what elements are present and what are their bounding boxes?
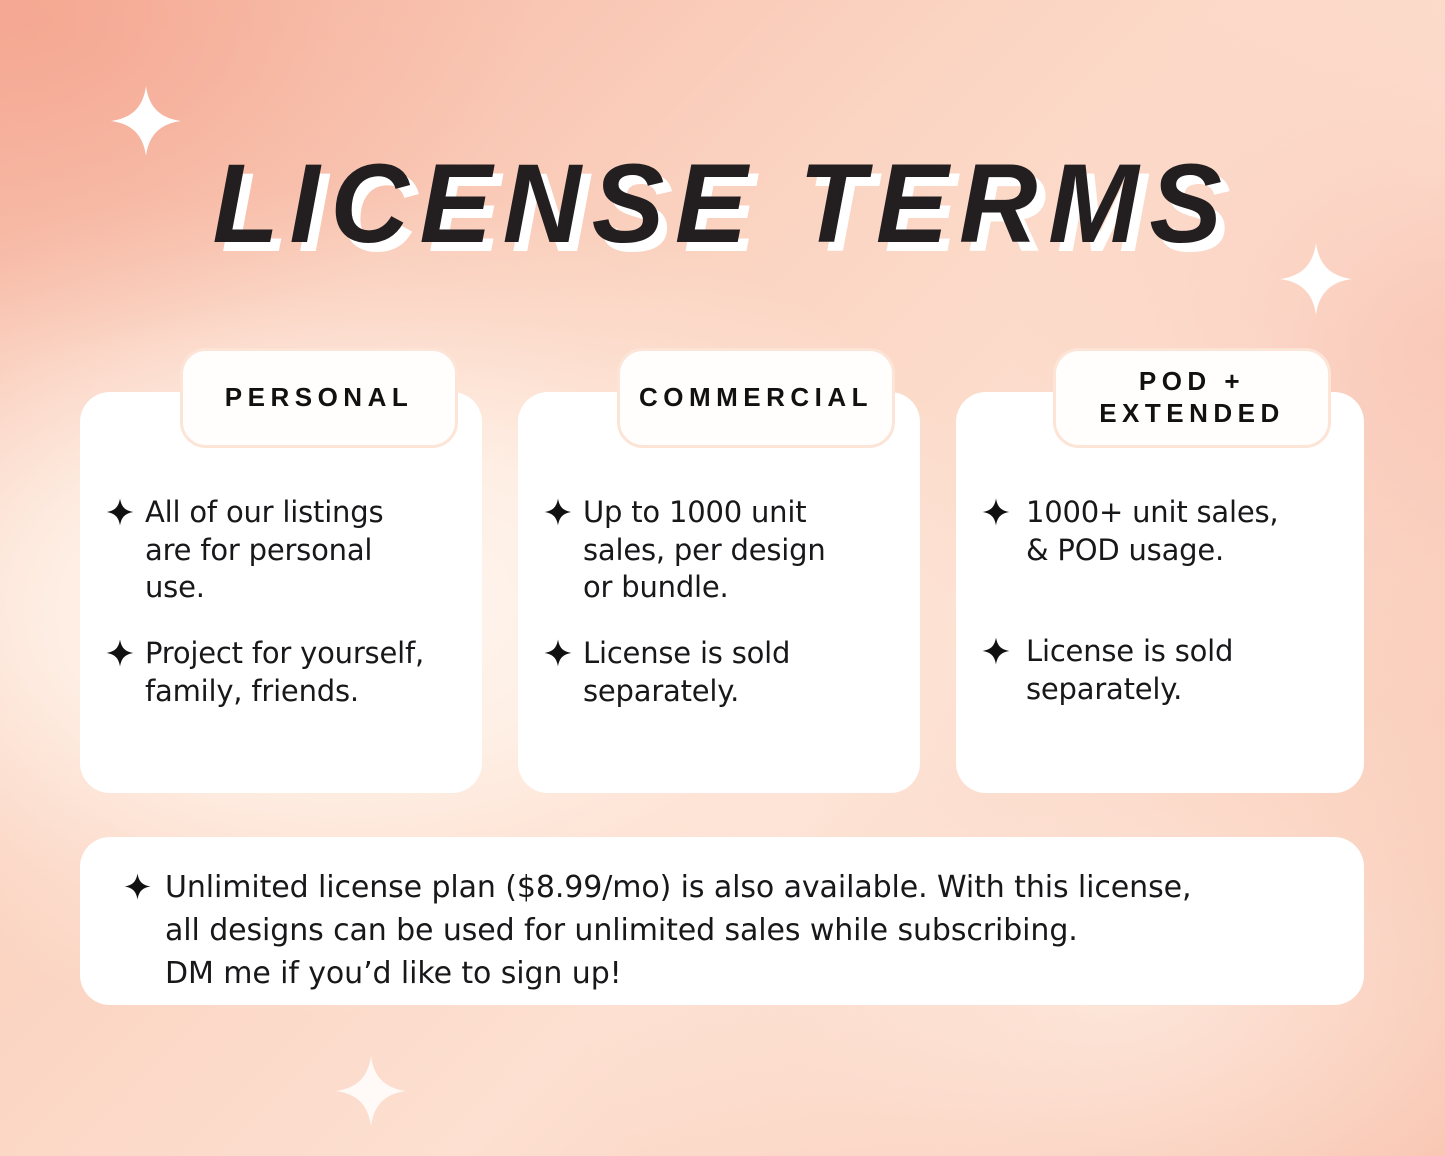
four-point-star-bullet-icon xyxy=(544,498,572,532)
list-item-text: Project for yourself, family, friends. xyxy=(145,635,424,710)
list-item-text: License is sold separately. xyxy=(1026,633,1233,708)
license-card-pod-extended: 1000+ unit sales, & POD usage. License i… xyxy=(956,392,1364,793)
list-item: All of our listings are for personal use… xyxy=(106,494,452,607)
unlimited-plan-banner: Unlimited license plan ($8.99/mo) is als… xyxy=(80,837,1364,1005)
four-point-star-bullet-icon xyxy=(106,498,134,532)
license-tier-header-commercial: COMMERCIAL xyxy=(617,348,895,448)
four-point-star-bullet-icon xyxy=(982,498,1010,532)
list-item: 1000+ unit sales, & POD usage. xyxy=(982,494,1334,569)
unlimited-plan-text: Unlimited license plan ($8.99/mo) is als… xyxy=(165,867,1191,996)
four-point-star-bullet-icon xyxy=(124,873,151,906)
page-title: LICENSE TERMS xyxy=(22,148,1424,260)
list-item: License is sold separately. xyxy=(544,635,890,710)
license-card-commercial: Up to 1000 unit sales, per design or bun… xyxy=(518,392,920,793)
license-card-personal: All of our listings are for personal use… xyxy=(80,392,482,793)
bullet-list: Up to 1000 unit sales, per design or bun… xyxy=(544,494,890,710)
license-tier-header-personal: PERSONAL xyxy=(180,348,458,448)
list-item: Up to 1000 unit sales, per design or bun… xyxy=(544,494,890,607)
license-tier-header-pod-extended: POD + EXTENDED xyxy=(1053,348,1331,448)
four-point-star-bullet-icon xyxy=(544,639,572,673)
four-point-star-bullet-icon xyxy=(106,639,134,673)
list-item: License is sold separately. xyxy=(982,633,1334,708)
bullet-list: 1000+ unit sales, & POD usage. License i… xyxy=(982,494,1334,709)
list-item-text: License is sold separately. xyxy=(583,635,790,710)
four-point-star-bullet-icon xyxy=(982,637,1010,671)
list-item: Project for yourself, family, friends. xyxy=(106,635,452,710)
license-terms-infographic: LICENSE TERMS All of our listings are fo… xyxy=(0,0,1445,1156)
list-item: Unlimited license plan ($8.99/mo) is als… xyxy=(124,867,1324,996)
list-item-text: 1000+ unit sales, & POD usage. xyxy=(1026,494,1278,569)
list-item-text: All of our listings are for personal use… xyxy=(145,494,383,607)
bullet-list: All of our listings are for personal use… xyxy=(106,494,452,710)
list-item-text: Up to 1000 unit sales, per design or bun… xyxy=(583,494,826,607)
